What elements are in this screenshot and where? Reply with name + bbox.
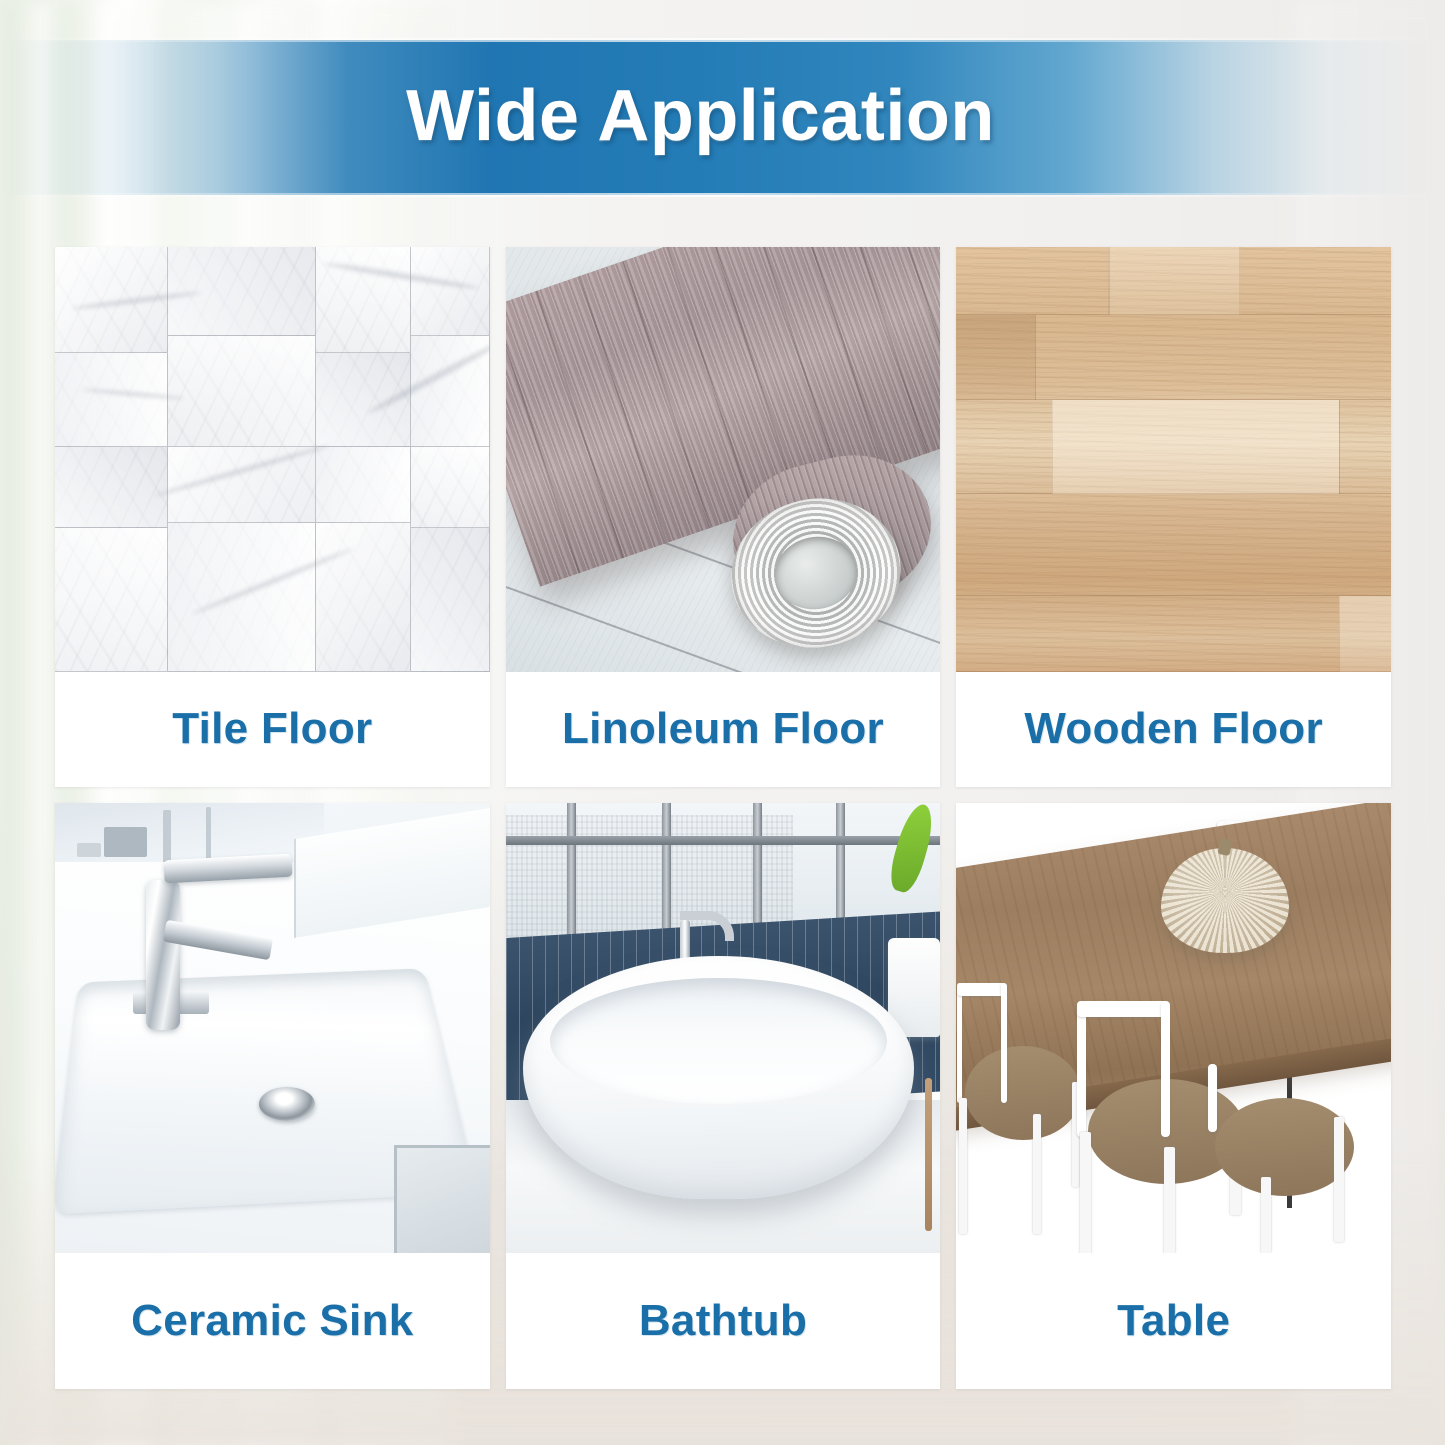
table-image [956, 803, 1391, 1253]
page-title: Wide Application [406, 75, 995, 157]
card-wooden-floor[interactable]: Wooden Floor [956, 247, 1391, 787]
bathtub-body [523, 956, 914, 1199]
card-caption: Wooden Floor [956, 672, 1391, 787]
bathtub-image [506, 803, 941, 1253]
card-table[interactable]: Table [956, 803, 1391, 1389]
card-linoleum-floor[interactable]: Linoleum Floor [506, 247, 941, 787]
card-caption: Ceramic Sink [55, 1253, 490, 1389]
wooden-floor-image [956, 247, 1391, 672]
drain [259, 1087, 315, 1121]
tile-pattern [55, 247, 490, 672]
card-tile-floor[interactable]: Tile Floor [55, 247, 490, 787]
card-caption: Tile Floor [55, 672, 490, 787]
ceramic-sink-image [55, 803, 490, 1253]
card-bathtub[interactable]: Bathtub [506, 803, 941, 1389]
title-banner: Wide Application [0, 40, 1445, 195]
card-caption: Bathtub [506, 1253, 941, 1389]
card-ceramic-sink[interactable]: Ceramic Sink [55, 803, 490, 1389]
bathtub-interior [550, 978, 886, 1104]
linoleum-floor-image [506, 247, 941, 672]
decorative-ball [1161, 848, 1289, 953]
cabinet-edge [394, 1145, 490, 1253]
faucet-body [146, 880, 180, 1030]
card-caption: Linoleum Floor [506, 672, 941, 787]
chair [1208, 1064, 1382, 1253]
application-grid: Tile Floor Linoleum Floor [55, 247, 1391, 1389]
card-caption: Table [956, 1253, 1391, 1389]
towel-rack [925, 1078, 932, 1231]
city-view [506, 815, 793, 937]
tile-floor-image [55, 247, 490, 672]
